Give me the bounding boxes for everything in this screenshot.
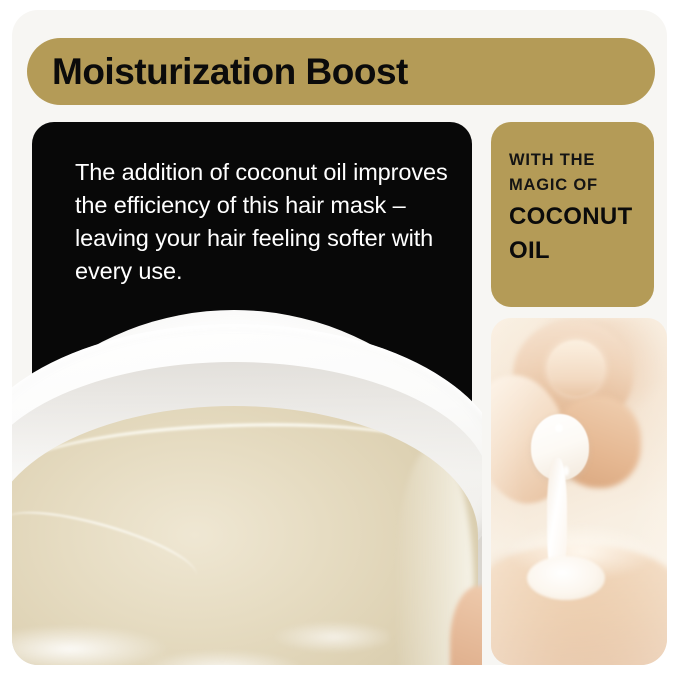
description-text: The addition of coconut oil improves the…: [75, 156, 450, 288]
jar-illustration: [12, 310, 482, 665]
jar-photo: [12, 302, 482, 665]
cream-sheen-left: [12, 497, 203, 598]
title-banner: Moisturization Boost: [27, 38, 655, 105]
badge-line-2: MAGIC OF: [509, 173, 654, 198]
product-feature-card: Moisturization Boost The addition of coc…: [12, 10, 667, 665]
jar-cream-surface: [12, 406, 478, 665]
badge-line-3: COCONUT: [509, 202, 654, 232]
cream-pool: [527, 556, 605, 600]
cream-drip-photo: [491, 318, 667, 665]
cream-specular-highlight: [555, 424, 563, 432]
fingernail: [547, 340, 605, 396]
badge-line-4: OIL: [509, 236, 654, 266]
badge-line-1: WITH THE: [509, 148, 654, 173]
cream-swirl-upper: [12, 592, 390, 665]
cream-specular-highlight-2: [563, 466, 569, 476]
magic-of-coconut-oil-badge: WITH THE MAGIC OF COCONUT OIL: [491, 122, 654, 307]
page-title: Moisturization Boost: [27, 53, 408, 90]
